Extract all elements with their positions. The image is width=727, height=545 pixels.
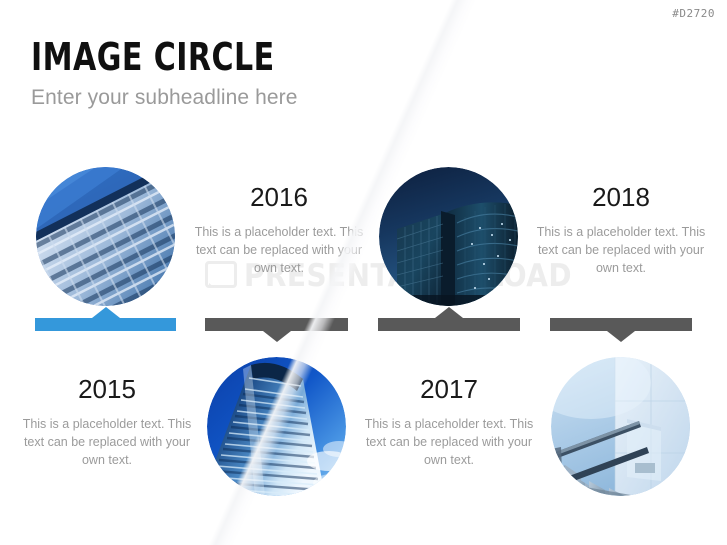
timeline-bar-2015 bbox=[35, 318, 176, 331]
placeholder-text: This is a placeholder text. This text ca… bbox=[18, 415, 196, 469]
circle-image-2017[interactable] bbox=[379, 167, 518, 306]
year-label: 2016 bbox=[190, 183, 368, 212]
arrow-down-icon bbox=[263, 331, 291, 342]
timeline-bar-body bbox=[205, 318, 348, 331]
slide-code-label: #D2720 bbox=[672, 7, 715, 20]
timeline-text-2015: 2015 This is a placeholder text. This te… bbox=[18, 375, 196, 469]
arrow-up-icon bbox=[435, 307, 463, 318]
slide-canvas: #D2720 IMAGE CIRCLE Enter your subheadli… bbox=[0, 0, 727, 545]
circle-image-2015[interactable] bbox=[36, 167, 175, 306]
placeholder-text: This is a placeholder text. This text ca… bbox=[532, 223, 710, 277]
arrow-down-icon bbox=[607, 331, 635, 342]
year-label: 2015 bbox=[18, 375, 196, 404]
placeholder-text: This is a placeholder text. This text ca… bbox=[360, 415, 538, 469]
timeline-text-2016: 2016 This is a placeholder text. This te… bbox=[190, 183, 368, 277]
dark-glass-tower-dusk-photo bbox=[379, 167, 518, 306]
glass-railing-staircase-photo bbox=[551, 357, 690, 496]
timeline-bar-body bbox=[550, 318, 692, 331]
year-label: 2017 bbox=[360, 375, 538, 404]
timeline-bar-2016 bbox=[205, 318, 348, 331]
timeline-text-2017: 2017 This is a placeholder text. This te… bbox=[360, 375, 538, 469]
arrow-up-icon bbox=[92, 307, 120, 318]
timeline-text-2018: 2018 This is a placeholder text. This te… bbox=[532, 183, 710, 277]
timeline-bar-2017 bbox=[378, 318, 520, 331]
circle-image-2018[interactable] bbox=[551, 357, 690, 496]
timeline-bar-body bbox=[378, 318, 520, 331]
circle-image-2016[interactable] bbox=[207, 357, 346, 496]
timeline-bar-2018 bbox=[550, 318, 692, 331]
page-title: IMAGE CIRCLE bbox=[31, 38, 275, 76]
placeholder-text: This is a placeholder text. This text ca… bbox=[190, 223, 368, 277]
year-label: 2018 bbox=[532, 183, 710, 212]
page-subtitle: Enter your subheadline here bbox=[31, 86, 298, 110]
timeline-bar-body bbox=[35, 318, 176, 331]
blue-skyscraper-upward-photo bbox=[207, 357, 346, 496]
blue-glass-facade-photo bbox=[36, 167, 175, 306]
